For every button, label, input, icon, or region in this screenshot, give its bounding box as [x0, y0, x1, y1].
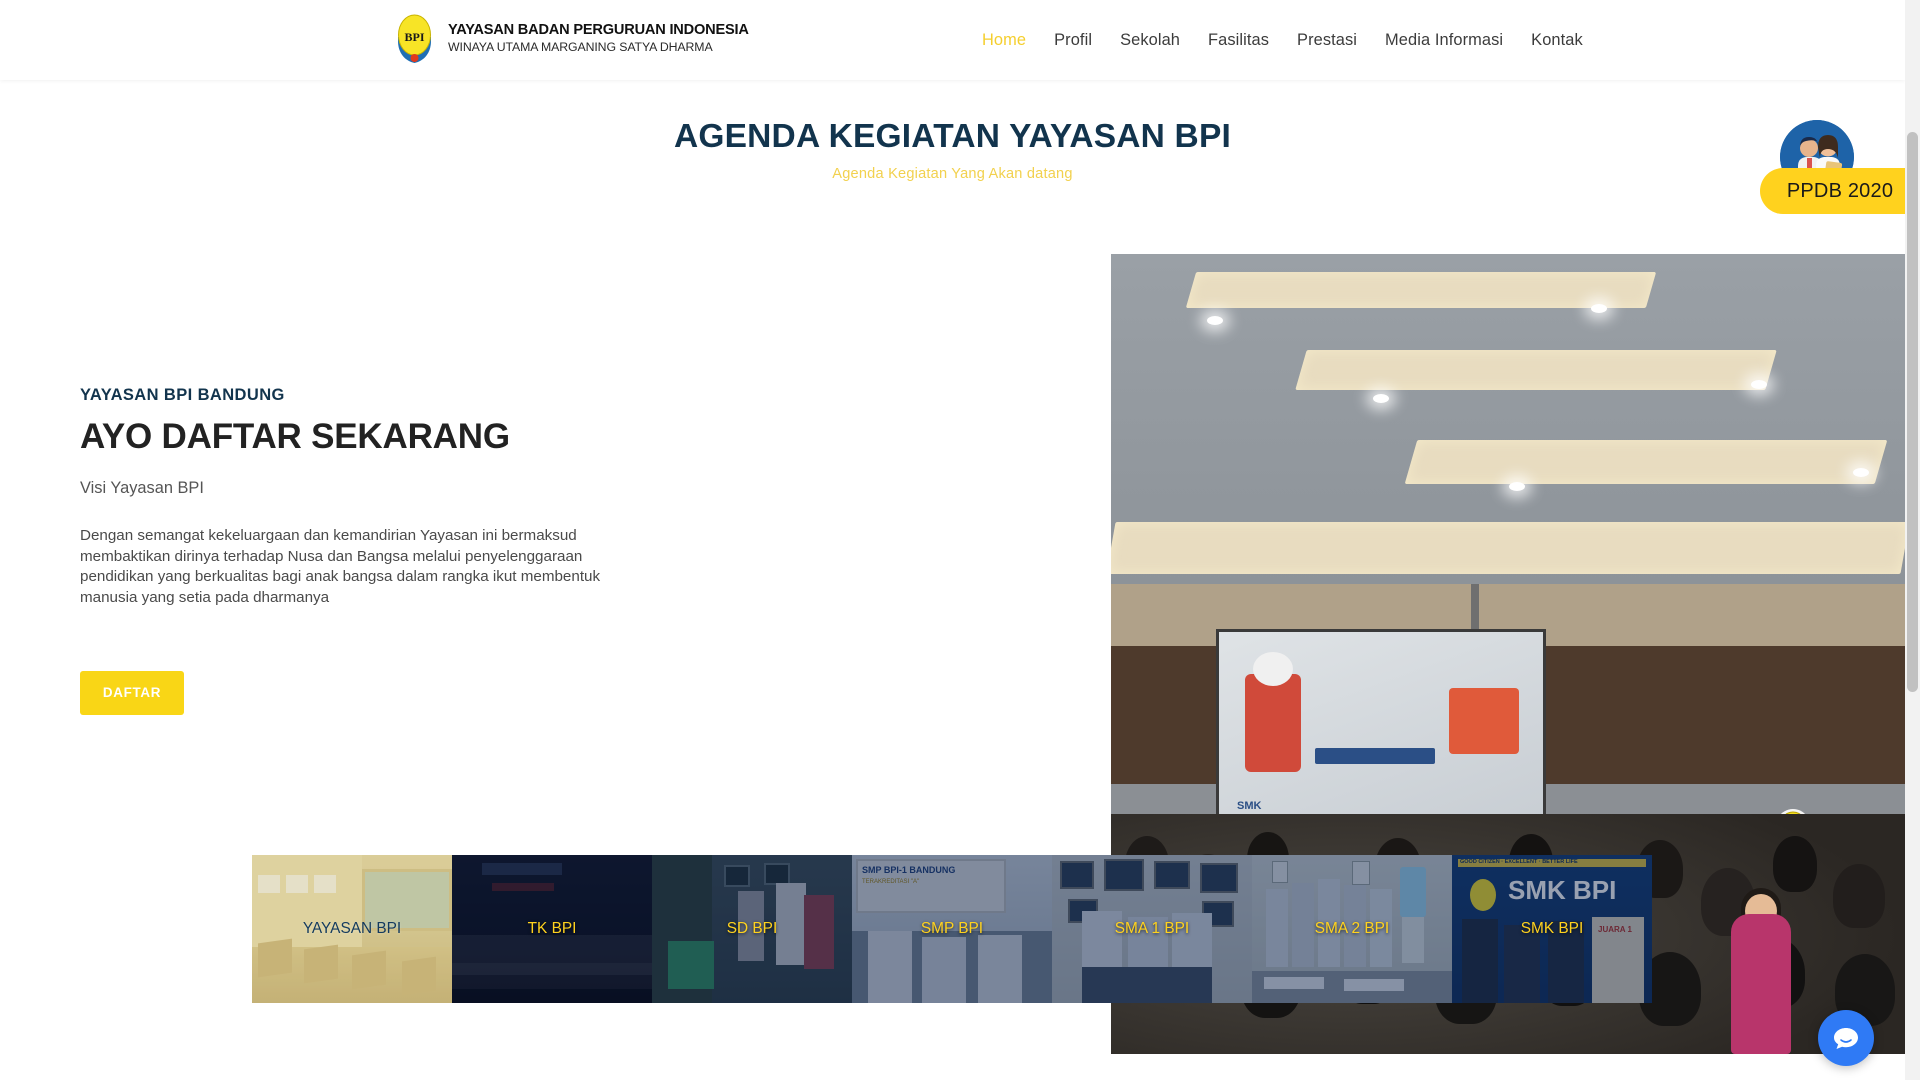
ppdb-badge[interactable]: PPDB 2020	[1760, 120, 1920, 235]
chat-bubble-icon	[1831, 1023, 1861, 1053]
page-root: BPI YAYASAN BADAN PERGURUAN INDONESIA WI…	[0, 0, 1920, 1080]
tile-sd-bpi[interactable]: SD BPI	[652, 855, 852, 1003]
promo-subhead: Visi Yayasan BPI	[80, 479, 680, 498]
tile-smk-bpi[interactable]: GOOD CITIZEN · EXCELLENT · BETTER LIFE S…	[1452, 855, 1652, 1003]
tile-label: SMA 2 BPI	[1252, 920, 1452, 938]
tile-yayasan-bpi[interactable]: YAYASAN BPI	[252, 855, 452, 1003]
site-header: BPI YAYASAN BADAN PERGURUAN INDONESIA WI…	[0, 0, 1905, 80]
tile-sma-2-bpi[interactable]: SMA 2 BPI	[1252, 855, 1452, 1003]
ppdb-label: PPDB 2020	[1787, 180, 1893, 203]
brand-subtitle: WINAYA UTAMA MARGANING SATYA DHARMA	[448, 41, 749, 54]
nav-item-sekolah[interactable]: Sekolah	[1106, 31, 1194, 50]
brand-text: YAYASAN BADAN PERGURUAN INDONESIA WINAYA…	[448, 23, 749, 54]
tile-tk-bpi[interactable]: TK BPI	[452, 855, 652, 1003]
tile-label: TK BPI	[452, 920, 652, 938]
agenda-heading: AGENDA KEGIATAN YAYASAN BPI	[0, 118, 1905, 156]
nav-item-kontak[interactable]: Kontak	[1517, 31, 1597, 50]
promo-block: YAYASAN BPI BANDUNG AYO DAFTAR SEKARANG …	[80, 386, 680, 715]
chat-widget-button[interactable]	[1818, 1010, 1874, 1066]
tile-smp-bpi[interactable]: SMP BPI-1 BANDUNG TERAKREDITASI "A" SMP …	[852, 855, 1052, 1003]
main-navigation: Home Profil Sekolah Fasilitas Prestasi M…	[968, 0, 1597, 80]
nav-item-fasilitas[interactable]: Fasilitas	[1194, 31, 1283, 50]
tile-label: SMP BPI	[852, 920, 1052, 938]
promo-body-text: Dengan semangat kekeluargaan dan kemandi…	[80, 526, 636, 609]
brand-logo-block[interactable]: BPI YAYASAN BADAN PERGURUAN INDONESIA WI…	[392, 11, 749, 66]
page-scrollbar[interactable]	[1905, 0, 1920, 1080]
nav-item-home[interactable]: Home	[968, 31, 1040, 50]
nav-item-media-informasi[interactable]: Media Informasi	[1371, 31, 1517, 50]
daftar-button[interactable]: DAFTAR	[80, 671, 184, 715]
tile-label: SMA 1 BPI	[1052, 920, 1252, 938]
tile-label: SD BPI	[652, 920, 852, 938]
nav-item-profil[interactable]: Profil	[1040, 31, 1106, 50]
tile-label: SMK BPI	[1452, 920, 1652, 938]
ppdb-pill[interactable]: PPDB 2020	[1760, 168, 1920, 214]
promo-headline: AYO DAFTAR SEKARANG	[80, 417, 680, 457]
bpi-shield-logo-icon: BPI	[392, 11, 437, 66]
agenda-subheading: Agenda Kegiatan Yang Akan datang	[0, 166, 1905, 182]
svg-text:BPI: BPI	[404, 30, 424, 44]
promo-eyebrow: YAYASAN BPI BANDUNG	[80, 386, 680, 405]
tile-label: YAYASAN BPI	[252, 920, 452, 938]
nav-item-prestasi[interactable]: Prestasi	[1283, 31, 1371, 50]
school-tiles-row: YAYASAN BPI TK BPI SD BPI	[252, 855, 1652, 1003]
tile-sma-1-bpi[interactable]: SMA 1 BPI	[1052, 855, 1252, 1003]
brand-title: YAYASAN BADAN PERGURUAN INDONESIA	[448, 23, 749, 38]
scrollbar-thumb[interactable]	[1907, 132, 1918, 692]
